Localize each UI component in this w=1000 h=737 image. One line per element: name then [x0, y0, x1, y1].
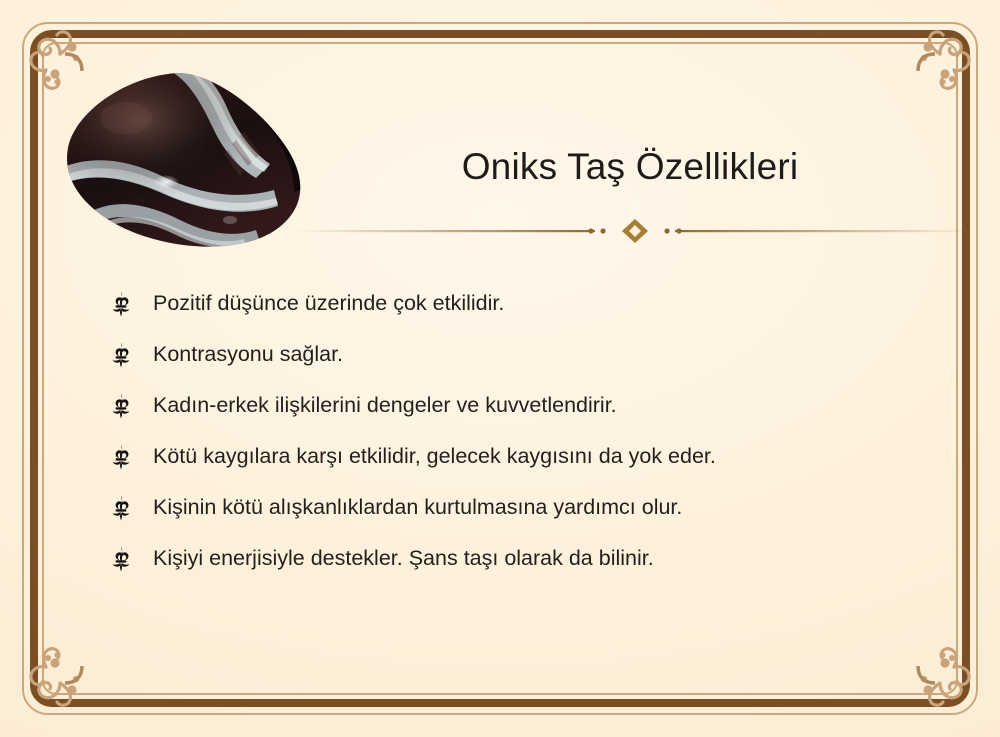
- list-item-label: Kontrasyonu sağlar.: [138, 342, 343, 368]
- corner-filigree-top-right-icon: [872, 10, 990, 128]
- list-item: Pozitif düşünce üzerinde çok etkilidir.: [104, 278, 944, 329]
- corner-filigree-bottom-left-icon: [10, 609, 128, 727]
- list-item-label: Kişinin kötü alışkanlıklardan kurtulması…: [138, 495, 682, 521]
- fleur-de-lis-icon: [104, 393, 138, 419]
- fleur-de-lis-icon: [104, 291, 138, 317]
- feature-list: Pozitif düşünce üzerinde çok etkilidir. …: [104, 278, 944, 584]
- list-item: Kişinin kötü alışkanlıklardan kurtulması…: [104, 482, 944, 533]
- list-item: Kadın-erkek ilişkilerini dengeler ve kuv…: [104, 380, 944, 431]
- fleur-de-lis-icon: [104, 444, 138, 470]
- list-item-label: Kadın-erkek ilişkilerini dengeler ve kuv…: [138, 393, 617, 419]
- fleur-de-lis-icon: [104, 546, 138, 572]
- fleur-de-lis-icon: [104, 495, 138, 521]
- corner-filigree-bottom-right-icon: [872, 609, 990, 727]
- list-item-label: Kişiyi enerjisiyle destekler. Şans taşı …: [138, 546, 654, 572]
- list-item: Kişiyi enerjisiyle destekler. Şans taşı …: [104, 533, 944, 584]
- list-item: Kontrasyonu sağlar.: [104, 329, 944, 380]
- onyx-stone-image: [60, 70, 310, 248]
- list-item-label: Pozitif düşünce üzerinde çok etkilidir.: [138, 291, 504, 317]
- fleur-de-lis-icon: [104, 342, 138, 368]
- ornamental-divider: [295, 216, 975, 246]
- infographic-card: Oniks Taş Özellikleri: [0, 0, 1000, 737]
- list-item-label: Kötü kaygılara karşı etkilidir, gelecek …: [138, 444, 716, 470]
- page-title: Oniks Taş Özellikleri: [300, 146, 960, 189]
- heading-block: Oniks Taş Özellikleri: [300, 146, 960, 189]
- list-item: Kötü kaygılara karşı etkilidir, gelecek …: [104, 431, 944, 482]
